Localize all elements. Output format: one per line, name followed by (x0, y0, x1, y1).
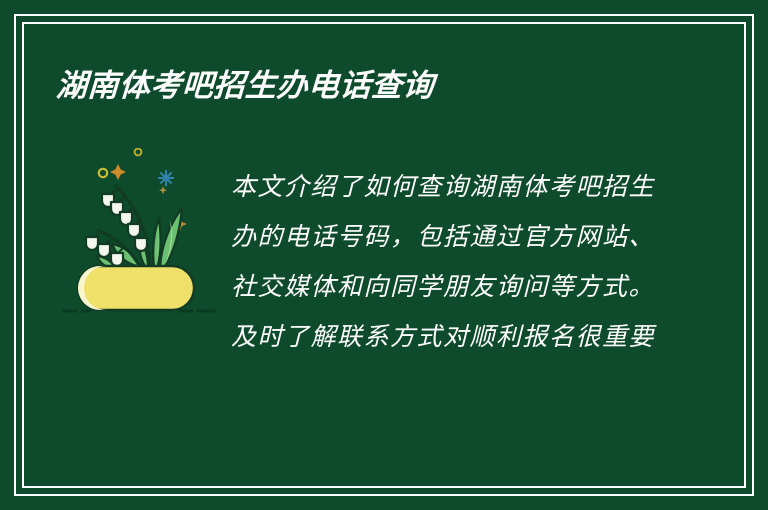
article-summary-text: 本文介绍了如何查询湖南体考吧招生办的电话号码，包括通过官方网站、社交媒体和向同学… (231, 162, 656, 362)
flower-pot (78, 266, 194, 310)
lily-of-the-valley-illustration (62, 148, 222, 313)
page-title: 湖南体考吧招生办电话查询 (55, 66, 435, 106)
article-cover-banner: 湖南体考吧招生办电话查询 (0, 0, 768, 510)
